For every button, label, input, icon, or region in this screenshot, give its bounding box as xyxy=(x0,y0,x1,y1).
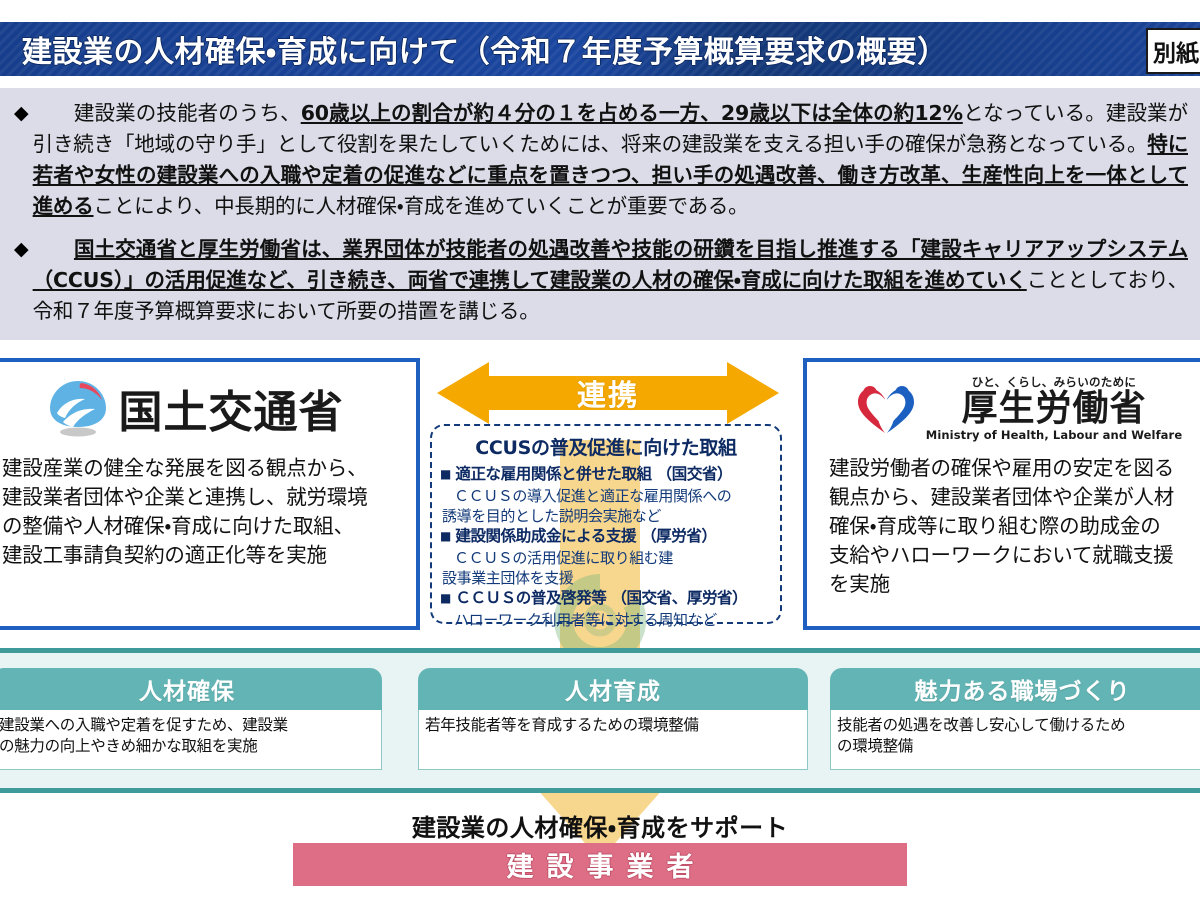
mhlw-name: 厚生労働省 xyxy=(961,390,1146,428)
mhlw-description: 建設労働者の確保や雇用の安定を図る観点から、建設業者団体や企業が人材確保・育成等… xyxy=(807,454,1200,599)
pillar-description: 技能者の処遇を改善し安心して働けるための環境整備 xyxy=(830,710,1200,770)
mhlw-logo-block: ひと、くらし、みらいのために 厚生労働省 Ministry of Health,… xyxy=(807,362,1200,454)
pillar-jinzai-ikusei: 人材育成 若年技能者等を育成するための環境整備 xyxy=(418,668,808,773)
mlit-name: 国土交通省 xyxy=(119,376,344,440)
lead-paragraph-text: 国土交通省と厚生労働省は、業界団体が技能者の処遇改善や技能の研鑽を目指し推進する… xyxy=(33,234,1188,327)
mhlw-description-line: 支給やハローワークにおいて就職支援 xyxy=(829,541,1200,570)
mlit-ministry-box: 国土交通省 建設産業の健全な発展を図る観点から、建設業者団体や企業と連携し、就労… xyxy=(0,358,420,630)
pillar-description: 建設業への入職や定着を促すため、建設業の魅力の向上やきめ細かな取組を実施 xyxy=(0,710,382,770)
bullet-square-icon: ■ xyxy=(440,526,451,547)
mhlw-description-line: 観点から、建設業者団体や企業が人材 xyxy=(829,483,1200,512)
ccus-item-detail-line: 設事業主団体を支援 xyxy=(440,568,772,588)
collaboration-arrow: 連携 xyxy=(437,362,779,424)
ccus-box-title: CCUSの普及促進に向けた取組 xyxy=(432,433,780,460)
slide-title-bar: 建設業の人材確保・育成に向けて（令和７年度予算概算要求の概要） xyxy=(0,22,1200,76)
pillar-description: 若年技能者等を育成するための環境整備 xyxy=(418,710,808,770)
construction-business-bar: 建設事業者 xyxy=(293,843,907,886)
lead-paragraph-list: ◆ 建設業の技能者のうち、60歳以上の割合が約４分の１を占める一方、29歳以下は… xyxy=(0,88,1200,327)
pillar-title: 人材確保 xyxy=(0,668,382,710)
mlit-description-line: 建設産業の健全な発展を図る観点から、 xyxy=(2,454,412,483)
lead-paragraph: ◆ 建設業の技能者のうち、60歳以上の割合が約４分の１を占める一方、29歳以下は… xyxy=(10,98,1188,222)
ccus-item-detail-line: ハローワーク利用者等に対する周知など xyxy=(440,610,772,630)
mlit-logo-icon xyxy=(47,377,109,439)
ccus-initiatives-box: CCUSの普及促進に向けた取組 ■適正な雇用関係と併せた取組 （国交省）ＣＣＵＳ… xyxy=(430,424,782,624)
lead-paragraph-text: 建設業の技能者のうち、60歳以上の割合が約４分の１を占める一方、29歳以下は全体… xyxy=(33,98,1188,222)
lead-text-panel: ◆ 建設業の技能者のうち、60歳以上の割合が約４分の１を占める一方、29歳以下は… xyxy=(0,88,1200,340)
ccus-item: ■建設関係助成金による支援 （厚労省）ＣＣＵＳの活用促進に取り組む建設事業主団体… xyxy=(440,526,772,588)
page-title: 建設業の人材確保・育成に向けて（令和７年度予算概算要求の概要） xyxy=(22,27,948,71)
mhlw-description-line: を実施 xyxy=(829,570,1200,599)
mhlw-name-block: ひと、くらし、みらいのために 厚生労働省 Ministry of Health,… xyxy=(926,374,1182,442)
mlit-description-line: 建設工事請負契約の適正化等を実施 xyxy=(2,541,412,570)
mlit-logo-block: 国土交通省 xyxy=(0,362,416,454)
lead-paragraph: ◆ 国土交通省と厚生労働省は、業界団体が技能者の処遇改善や技能の研鑽を目指し推進… xyxy=(10,234,1188,327)
ccus-item-detail-line: ＣＣＵＳの導入促進と適正な雇用関係への xyxy=(440,486,772,506)
ccus-item-detail-line: 誘導を目的とした説明会実施など xyxy=(440,506,772,526)
support-statement: 建設業の人材確保・育成をサポート xyxy=(0,808,1200,843)
mlit-description-line: の整備や人材確保・育成に向けた取組、 xyxy=(2,512,412,541)
ccus-item-heading: 建設関係助成金による支援 （厚労省） xyxy=(455,526,716,547)
mlit-description: 建設産業の健全な発展を図る観点から、建設業者団体や企業と連携し、就労環境の整備や… xyxy=(0,454,416,570)
ccus-item: ■ＣＣＵＳの普及啓発等 （国交省、厚労省）ハローワーク利用者等に対する周知など xyxy=(440,588,772,630)
bullet-square-icon: ■ xyxy=(440,588,451,609)
ccus-item-heading: ＣＣＵＳの普及啓発等 （国交省、厚労省） xyxy=(455,588,747,609)
construction-business-label: 建設事業者 xyxy=(494,845,707,884)
pillar-title: 魅力ある職場づくり xyxy=(830,668,1200,710)
ccus-item: ■適正な雇用関係と併せた取組 （国交省）ＣＣＵＳの導入促進と適正な雇用関係への誘… xyxy=(440,464,772,526)
pillar-description-line: 技能者の処遇を改善し安心して働けるため xyxy=(837,715,1200,736)
attachment-badge: 別紙 xyxy=(1146,28,1200,74)
mhlw-description-line: 建設労働者の確保や雇用の安定を図る xyxy=(829,454,1200,483)
ccus-item-detail-line: ＣＣＵＳの活用促進に取り組む建 xyxy=(440,548,772,568)
bullet-square-icon: ■ xyxy=(440,464,451,485)
mhlw-ministry-box: ひと、くらし、みらいのために 厚生労働省 Ministry of Health,… xyxy=(803,358,1200,630)
bullet-diamond-icon: ◆ xyxy=(14,98,29,128)
slide-page: 建設業の人材確保・育成に向けて（令和７年度予算概算要求の概要） 別紙 ◆ 建設業… xyxy=(0,0,1200,900)
mhlw-description-line: 確保・育成等に取り組む際の助成金の xyxy=(829,512,1200,541)
pillar-description-line: 建設業への入職や定着を促すため、建設業 xyxy=(0,715,375,736)
pillar-miryoku-shokuba: 魅力ある職場づくり 技能者の処遇を改善し安心して働けるための環境整備 xyxy=(830,668,1200,773)
bullet-diamond-icon: ◆ xyxy=(14,234,29,264)
ccus-item-list: ■適正な雇用関係と併せた取組 （国交省）ＣＣＵＳの導入促進と適正な雇用関係への誘… xyxy=(432,464,780,630)
collaboration-label: 連携 xyxy=(437,362,779,424)
ccus-item-heading: 適正な雇用関係と併せた取組 （国交省） xyxy=(455,464,732,485)
mhlw-name-english: Ministry of Health, Labour and Welfare xyxy=(926,428,1182,442)
pillar-description-line: 若年技能者等を育成するための環境整備 xyxy=(425,715,801,736)
mhlw-logo-icon xyxy=(854,381,918,435)
pillar-description-line: の魅力の向上やきめ細かな取組を実施 xyxy=(0,736,375,757)
pillar-jinzai-kakuho: 人材確保 建設業への入職や定着を促すため、建設業の魅力の向上やきめ細かな取組を実… xyxy=(0,668,382,773)
pillar-title: 人材育成 xyxy=(418,668,808,710)
pillar-description-line: の環境整備 xyxy=(837,736,1200,757)
mlit-description-line: 建設業者団体や企業と連携し、就労環境 xyxy=(2,483,412,512)
